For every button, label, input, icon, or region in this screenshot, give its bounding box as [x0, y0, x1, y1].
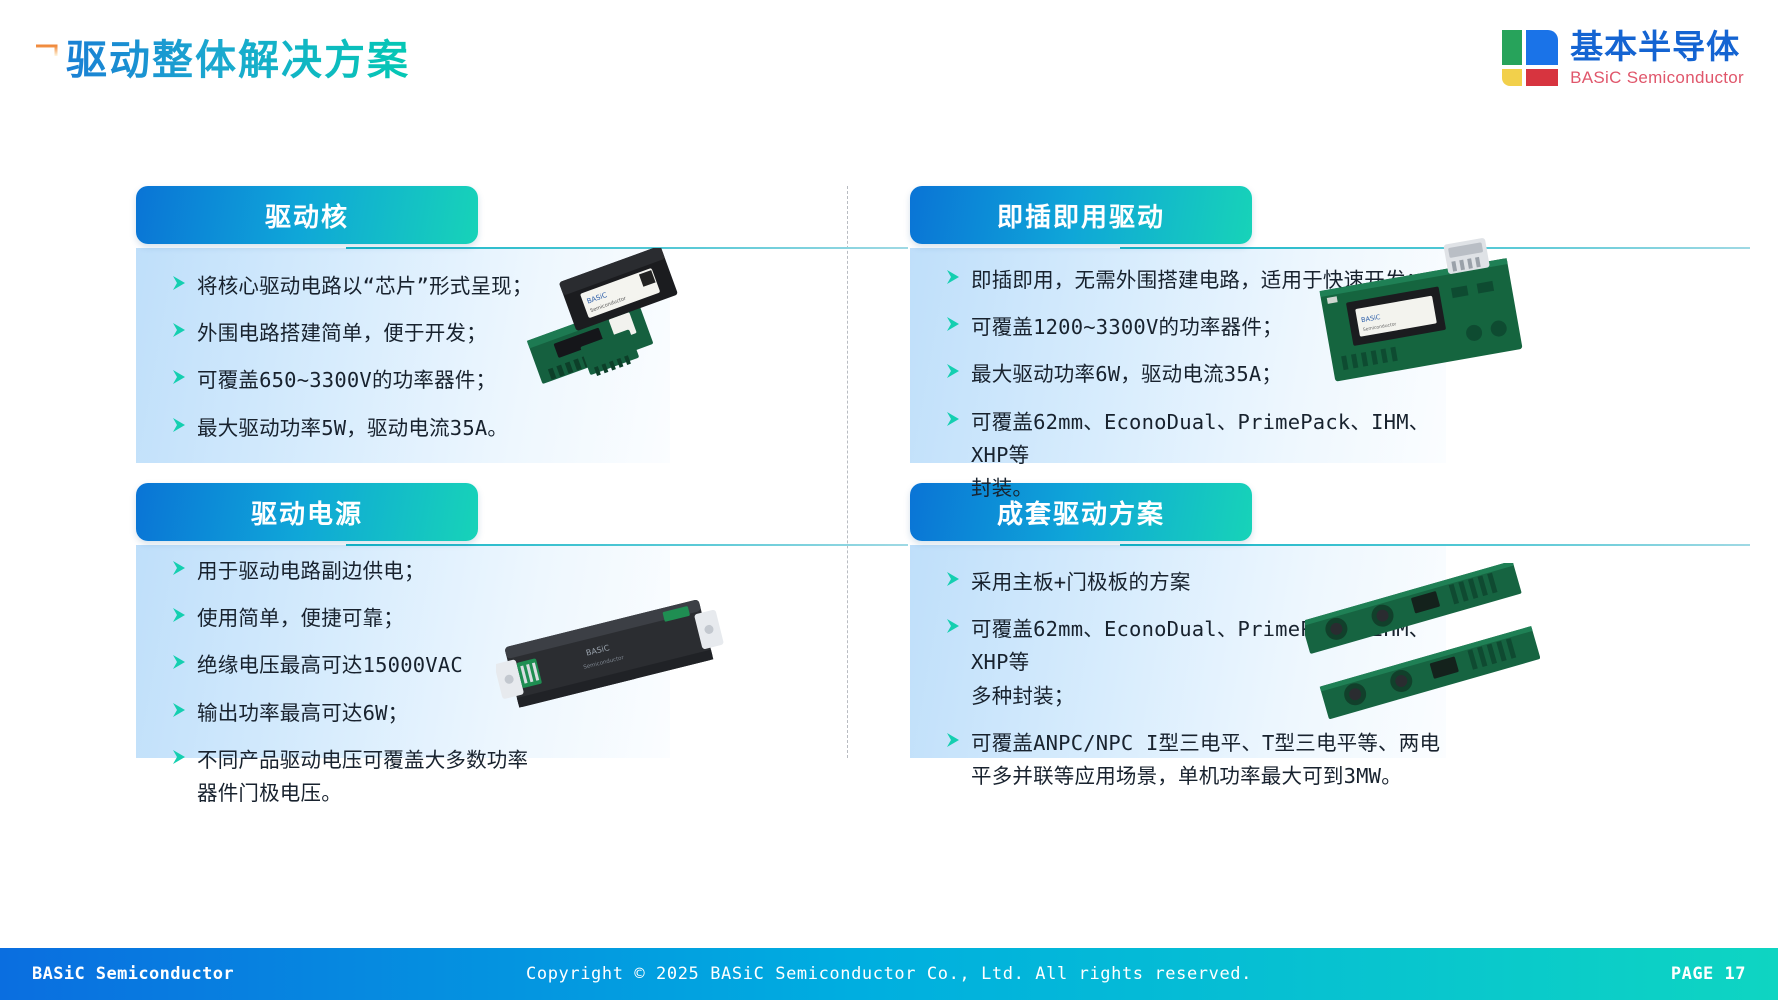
list-item-text: 外围电路搭建简单，便于开发；: [197, 317, 487, 350]
list-item: 最大驱动功率5W，驱动电流35A。: [171, 412, 611, 445]
list-item-text: 将核心驱动电路以“芯片”形式呈现；: [197, 270, 533, 303]
list-item-text: 输出功率最高可达6W；: [197, 697, 408, 730]
complete-drive-solution-boards-photo: [1305, 563, 1540, 733]
list-item-text: 可覆盖62mm、EconoDual、PrimePack、IHM、XHP等 封装。: [971, 406, 1465, 506]
card-rule: [1120, 544, 1750, 546]
chevron-right-icon: [945, 269, 964, 285]
list-item-text: 用于驱动电路副边供电；: [197, 555, 425, 588]
list-item-text: 采用主板+门极板的方案: [971, 566, 1191, 599]
card-title: 即插即用驱动: [997, 197, 1165, 234]
list-item-text: 可覆盖650~3300V的功率器件；: [197, 364, 496, 397]
chevron-right-icon: [171, 702, 190, 718]
chevron-right-icon: [171, 275, 190, 291]
card-header-badge[interactable]: 驱动电源: [136, 483, 478, 541]
card-title: 驱动核: [265, 197, 349, 234]
list-item-text: 可覆盖1200~3300V的功率器件；: [971, 311, 1283, 344]
card-complete-drive-solution: 成套驱动方案 采用主板+门极板的方案 可覆盖62mm、EconoDual、Pri…: [910, 483, 1610, 758]
card-title: 驱动电源: [251, 494, 363, 531]
list-item-text: 最大驱动功率6W，驱动电流35A；: [971, 358, 1282, 391]
chevron-right-icon: [171, 417, 190, 433]
chevron-right-icon: [945, 363, 964, 379]
footer-page-number: PAGE 17: [1671, 964, 1746, 984]
list-item: 不同产品驱动电压可覆盖大多数功率 器件门极电压。: [171, 744, 591, 810]
card-plug-and-play-driver: 即插即用驱动 即插即用，无需外围搭建电路，适用于快速开发； 可覆盖1200~33…: [910, 186, 1610, 476]
chevron-right-icon: [171, 654, 190, 670]
card-header-badge[interactable]: 驱动核: [136, 186, 478, 244]
driver-core-module-photo: BASiC Semiconductor: [514, 248, 714, 398]
plug-and-play-driver-board-photo: BASiC Semiconductor: [1305, 234, 1535, 394]
list-item: 可覆盖62mm、EconoDual、PrimePack、IHM、XHP等 封装。: [945, 406, 1465, 506]
card-header-badge[interactable]: 即插即用驱动: [910, 186, 1252, 244]
slide-root: 驱动整体解决方案 基本半导体 BASiC Semiconductor 驱动核: [0, 0, 1778, 1000]
drive-power-supply-photo: BASiC Semiconductor: [496, 578, 726, 738]
list-item: 可覆盖ANPC/NPC I型三电平、T型三电平等、两电 平多并联等应用场景，单机…: [945, 727, 1465, 793]
chevron-right-icon: [171, 749, 190, 765]
list-item-text: 最大驱动功率5W，驱动电流35A。: [197, 412, 508, 445]
chevron-right-icon: [945, 618, 964, 634]
chevron-right-icon: [171, 607, 190, 623]
chevron-right-icon: [171, 322, 190, 338]
card-drive-core: 驱动核 将核心驱动电路以“芯片”形式呈现； 外围电路搭建简单，便于开发；: [136, 186, 776, 476]
chevron-right-icon: [945, 316, 964, 332]
card-drive-power-supply: 驱动电源 用于驱动电路副边供电； 使用简单，便捷可靠；: [136, 483, 776, 758]
list-item-text: 绝缘电压最高可达15000VAC: [197, 649, 463, 682]
chevron-right-icon: [945, 411, 964, 427]
card-grid: 驱动核 将核心驱动电路以“芯片”形式呈现； 外围电路搭建简单，便于开发；: [0, 0, 1778, 1000]
chevron-right-icon: [171, 560, 190, 576]
card-rule: [346, 544, 908, 546]
list-item-text: 可覆盖ANPC/NPC I型三电平、T型三电平等、两电 平多并联等应用场景，单机…: [971, 727, 1440, 793]
chevron-right-icon: [945, 732, 964, 748]
footer-copyright: Copyright © 2025 BASiC Semiconductor Co.…: [0, 964, 1778, 984]
chevron-right-icon: [171, 369, 190, 385]
page-footer: BASiC Semiconductor Copyright © 2025 BAS…: [0, 948, 1778, 1000]
list-item-text: 不同产品驱动电压可覆盖大多数功率 器件门极电压。: [197, 744, 528, 810]
list-item-text: 使用简单，便捷可靠；: [197, 602, 404, 635]
chevron-right-icon: [945, 571, 964, 587]
